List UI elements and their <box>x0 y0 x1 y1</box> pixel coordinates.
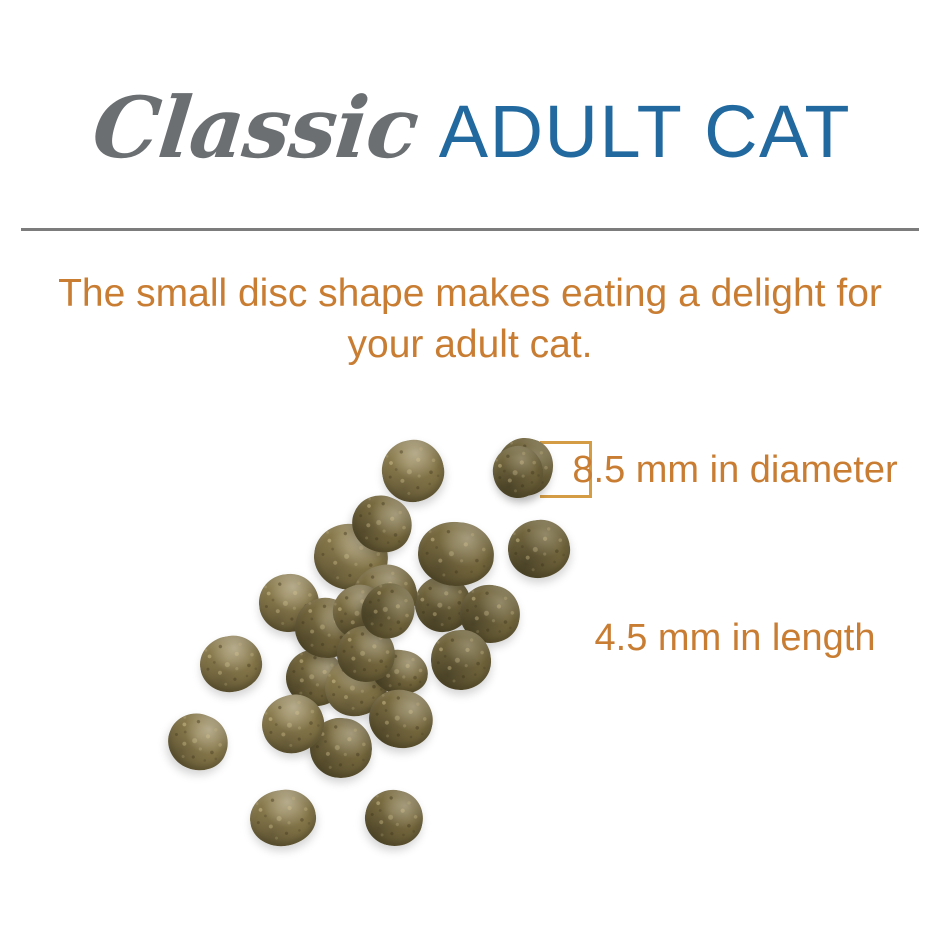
kibble-piece <box>196 631 267 697</box>
kibble-piece <box>246 786 319 851</box>
callout-length: 4.5 mm in length <box>565 612 905 666</box>
product-callout-panel: Classic ADULT CAT The small disc shape m… <box>0 0 940 940</box>
title-adult-cat: ADULT CAT <box>439 95 851 169</box>
header-divider <box>21 228 919 231</box>
kibble-piece <box>160 705 237 779</box>
kibble-piece <box>504 516 573 582</box>
kibble-piece <box>288 591 364 666</box>
kibble-piece <box>278 642 352 714</box>
kibble-piece <box>455 579 526 648</box>
kibble-piece <box>343 486 421 562</box>
kibble-piece <box>369 646 431 697</box>
subtitle-text: The small disc shape makes eating a deli… <box>40 268 900 371</box>
page-title: Classic ADULT CAT <box>0 86 940 196</box>
kibble-piece <box>255 687 332 761</box>
kibble-piece <box>333 621 400 686</box>
kibble-piece <box>363 683 439 755</box>
kibble-piece <box>376 434 450 508</box>
kibble-piece <box>310 519 392 595</box>
callout-diameter: 8.5 mm in diameter <box>565 444 905 498</box>
kibble-piece <box>416 519 496 588</box>
title-script-classic: Classic <box>89 86 422 170</box>
kibble-piece <box>256 571 322 635</box>
kibble-piece <box>429 628 493 692</box>
kibble-piece <box>318 651 394 724</box>
kibble-piece <box>351 574 424 648</box>
kibble-piece <box>347 558 424 632</box>
kibble-piece <box>360 785 428 852</box>
kibble-piece <box>307 715 375 781</box>
kibble-piece <box>324 576 395 647</box>
kibble-piece <box>407 568 479 640</box>
